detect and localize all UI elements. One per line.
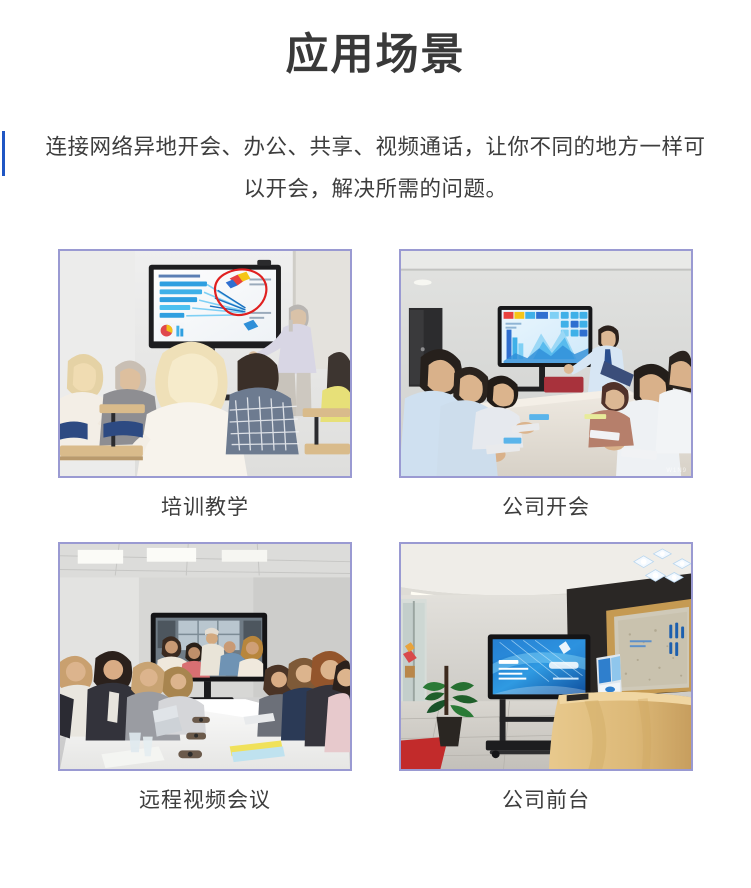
gallery-item[interactable]: 培训教学 (58, 249, 352, 532)
gallery-item-caption: 培训教学 (58, 478, 352, 532)
photo-company-reception[interactable] (399, 542, 693, 771)
gallery-row-bottom: 远程视频会议 (58, 542, 693, 825)
photo-watermark: W1N9 (666, 468, 687, 474)
gallery-item-caption: 远程视频会议 (58, 771, 352, 825)
gallery-item[interactable]: W1N9 公司开会 (399, 249, 693, 532)
row-spacer (58, 532, 693, 542)
gallery-item[interactable]: 远程视频会议 (58, 542, 352, 825)
gallery-item-caption: 公司前台 (399, 771, 693, 825)
photo-classroom-training[interactable] (58, 249, 352, 478)
gallery-item-caption: 公司开会 (399, 478, 693, 532)
gallery-item[interactable]: 公司前台 (399, 542, 693, 825)
left-blue-marker (2, 131, 5, 176)
page-title: 应用场景 (0, 26, 751, 84)
page-subtitle: 连接网络异地开会、办公、共享、视频通话，让你不同的地方一样可以开会，解决所需的问… (44, 126, 707, 210)
application-scenarios-page: 应用场景 连接网络异地开会、办公、共享、视频通话，让你不同的地方一样可以开会，解… (0, 0, 751, 888)
photo-company-meeting[interactable]: W1N9 (399, 249, 693, 478)
photo-remote-video-conference[interactable] (58, 542, 352, 771)
gallery-row-top: 培训教学 (58, 249, 693, 532)
scenario-gallery: 培训教学 (58, 249, 693, 825)
